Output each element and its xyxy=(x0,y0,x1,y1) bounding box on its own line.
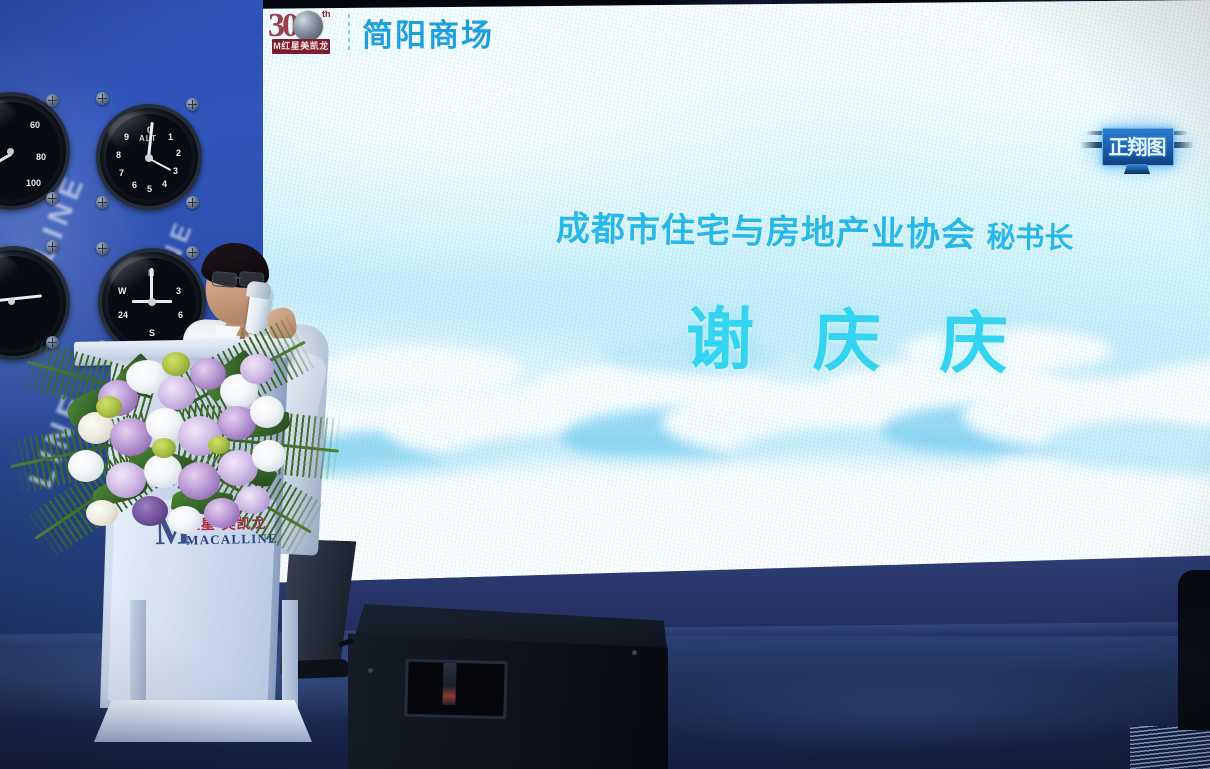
microphone-head xyxy=(246,280,272,299)
speaker-glasses-left-lens xyxy=(212,271,238,288)
podium-base xyxy=(94,700,312,742)
screen-banner: 30 th M红星美凯龙 简阳商场 xyxy=(266,6,494,58)
anniversary-suffix: th xyxy=(322,9,331,19)
organization-label: 成都市住宅与房地产业协会 xyxy=(556,210,977,255)
speaker-name-label: 谢 庆 庆 xyxy=(685,283,1028,387)
aircraft-emblem-icon: 正翔图 xyxy=(1078,112,1196,184)
silhouette-figure xyxy=(1178,570,1210,730)
speaker-glasses-bridge xyxy=(234,277,241,279)
flower-arrangement xyxy=(22,330,382,560)
speaker-organization-role: 成都市住宅与房地产业协会 秘书长 xyxy=(556,201,1074,258)
role-label: 秘书长 xyxy=(986,222,1074,255)
globe-icon xyxy=(293,11,323,41)
altimeter-gauge: ALT 9 8 7 6 5 4 3 2 1 0 xyxy=(96,104,202,210)
conference-stage-photo: 30 th M红星美凯龙 简阳商场 正翔图 成都市住宅与房地产业协会 秘书长 谢… xyxy=(0,0,1210,769)
stage-monitor-front xyxy=(348,628,668,769)
floor-reflection-scanlines xyxy=(1130,726,1210,769)
podium-leg xyxy=(130,600,146,708)
emblem-label: 正翔图 xyxy=(1102,131,1172,160)
emblem-base xyxy=(1124,164,1150,174)
airspeed-indicator-gauge: 60 80 100 xyxy=(0,92,70,210)
stage-monitor-driver xyxy=(442,663,456,705)
anniversary-logo: 30 th M红星美凯龙 xyxy=(266,6,336,58)
podium-leg xyxy=(282,600,298,708)
store-name-label: 简阳商场 xyxy=(362,10,494,55)
banner-divider xyxy=(348,14,350,50)
anniversary-brand-bar: M红星美凯龙 xyxy=(272,39,330,54)
